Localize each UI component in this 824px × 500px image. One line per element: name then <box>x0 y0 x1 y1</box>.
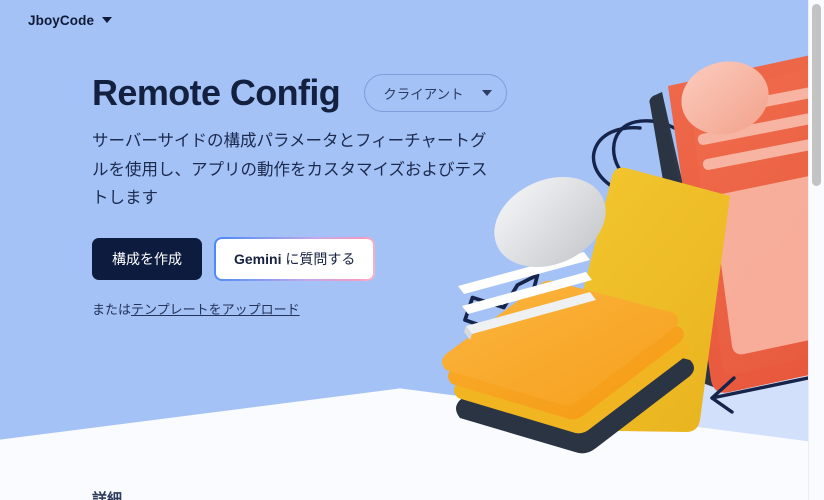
audience-selector-label: クライアント <box>383 83 463 103</box>
upload-template-line: またはテンプレートをアップロード <box>92 299 512 318</box>
curved-arrow-icon <box>594 121 700 202</box>
chevron-down-icon <box>482 90 492 96</box>
ask-gemini-label: Gemini に質問する <box>216 239 373 279</box>
audience-selector[interactable]: クライアント <box>364 74 506 112</box>
hero-section: JboyCode Remote Config クライアント サーバーサイドの構成… <box>0 0 808 460</box>
vertical-scrollbar[interactable] <box>808 0 824 500</box>
vertical-scrollbar-thumb[interactable] <box>812 4 821 186</box>
page-title: Remote Config <box>92 72 340 113</box>
create-config-button[interactable]: 構成を作成 <box>92 238 202 280</box>
red-card-shadow <box>650 92 730 392</box>
ask-gemini-button[interactable]: Gemini に質問する <box>214 237 375 281</box>
project-name: JboyCode <box>28 13 94 28</box>
below-fold-section: 詳細 <box>0 460 808 500</box>
action-buttons: 構成を作成 Gemini に質問する <box>92 237 512 281</box>
project-selector[interactable]: JboyCode <box>22 9 118 32</box>
page-description: サーバーサイドの構成パラメータとフィーチャートグルを使用し、アプリの動作をカスタ… <box>92 127 490 212</box>
remote-config-page: JboyCode Remote Config クライアント サーバーサイドの構成… <box>0 0 824 500</box>
title-row: Remote Config クライアント <box>92 72 512 113</box>
red-card <box>668 40 808 393</box>
chevron-down-icon <box>102 17 112 23</box>
top-bar: JboyCode <box>0 0 808 40</box>
pink-ellipse <box>674 52 777 143</box>
hero-content: Remote Config クライアント サーバーサイドの構成パラメータとフィー… <box>92 72 512 318</box>
gemini-rest-text: に質問する <box>281 251 355 267</box>
upload-template-link[interactable]: テンプレートをアップロード <box>131 302 300 317</box>
learn-more-heading: 詳細 <box>92 488 122 500</box>
gemini-brand-text: Gemini <box>234 251 281 267</box>
upload-prefix: または <box>92 302 131 317</box>
